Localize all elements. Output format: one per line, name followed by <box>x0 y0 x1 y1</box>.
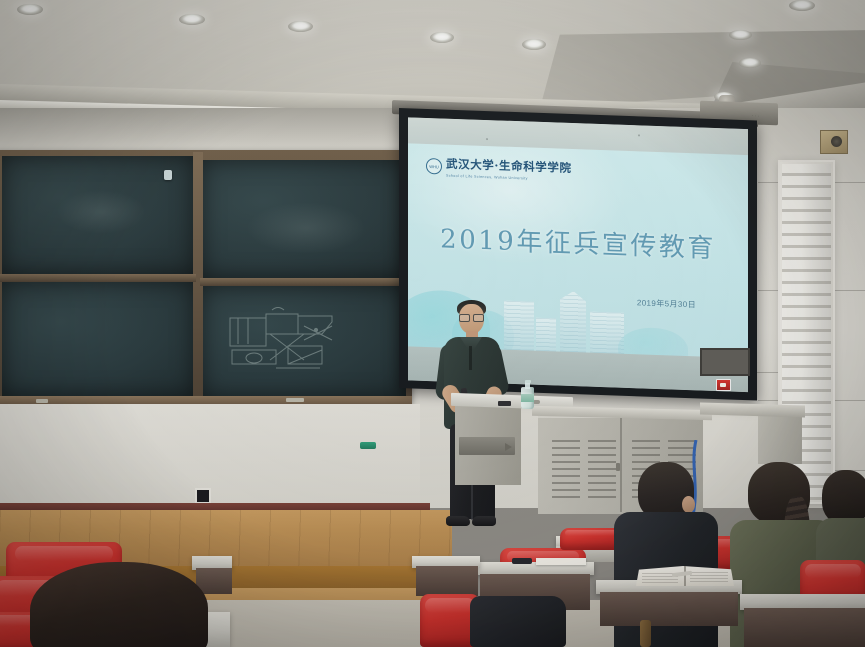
blackboard-mullion-horizontal <box>200 278 408 286</box>
student-front-left <box>30 562 210 647</box>
blackboard <box>0 150 412 404</box>
ceiling-downlight <box>729 30 752 40</box>
screen-brand-label: · · · <box>752 113 759 118</box>
side-desk-pedestal <box>758 412 802 464</box>
lecture-hall-photo: · · · WHU 武汉大学·生命科学学院 School of Life Sci… <box>0 0 865 647</box>
blackboard-magnet <box>164 170 172 180</box>
power-outlet-icon <box>195 488 211 504</box>
bottle-cap <box>525 380 531 383</box>
student-head <box>822 470 865 524</box>
device-on-lectern <box>498 401 511 406</box>
student-head <box>30 562 208 647</box>
phone-on-desk <box>512 558 532 564</box>
blackboard-smudge <box>246 202 366 254</box>
chalk-stick <box>36 399 48 403</box>
student-ear <box>682 496 695 513</box>
chalk-stick <box>286 398 304 402</box>
fire-alarm-icon <box>716 379 731 391</box>
slide-logo-text-cn: 武汉大学·生命科学学院 <box>446 156 572 176</box>
desk-underside <box>416 566 478 596</box>
book-spine <box>684 566 686 586</box>
screen-dust-speck <box>486 138 488 140</box>
ceiling-downlight <box>288 21 313 32</box>
ceiling-downlight <box>430 32 454 43</box>
water-bottle-under-desk <box>640 620 651 647</box>
water-bottle <box>521 380 534 409</box>
ceiling-downlight <box>739 58 761 68</box>
cabinet-vent-grille <box>552 440 580 498</box>
university-seal-icon: WHU <box>426 158 442 175</box>
blackboard-panel <box>2 282 194 396</box>
glasses-icon <box>459 314 484 320</box>
presenter-shoe-right <box>472 516 496 526</box>
microphone-base <box>533 400 540 404</box>
ceiling-downlight <box>17 4 43 15</box>
ceiling-downlight <box>179 14 205 25</box>
desk-underside <box>600 592 738 626</box>
cabinet-vent-grille <box>588 440 616 498</box>
blackboard-smudge <box>56 190 146 234</box>
screen-dust-speck <box>638 134 640 136</box>
bottle-label <box>521 394 534 402</box>
ceiling-downlight <box>522 39 546 50</box>
ceiling-downlight <box>789 0 815 11</box>
wall-shadow <box>0 108 420 154</box>
lectern-arrow-icon <box>505 443 512 451</box>
wall-speaker-icon <box>820 130 848 154</box>
paper-sheet <box>536 558 586 565</box>
blackboard-chalk-drawing <box>226 302 338 372</box>
wall-frame <box>700 348 750 376</box>
blackboard-mullion-horizontal <box>0 274 196 282</box>
presenter-shoe-left <box>446 516 470 526</box>
desk-underside <box>744 608 865 647</box>
wall-ledge-object <box>360 442 376 449</box>
student-bag <box>470 596 566 647</box>
presenter-shirt-placket <box>469 346 472 370</box>
